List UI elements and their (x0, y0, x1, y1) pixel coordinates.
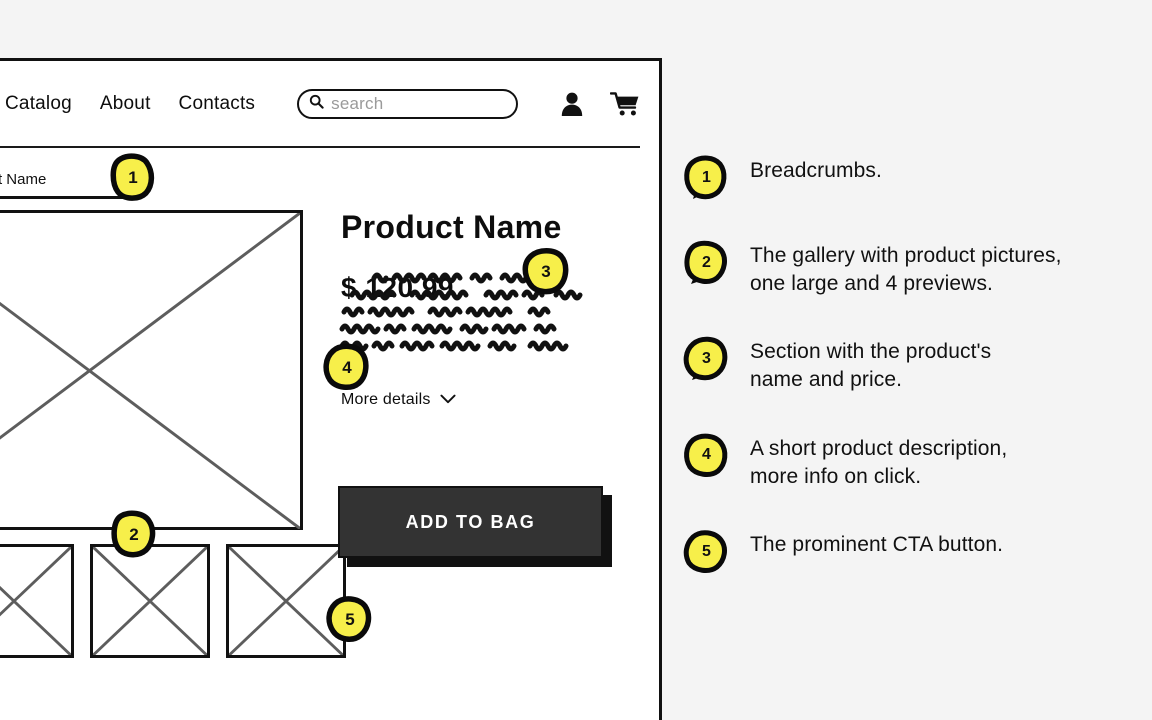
callout-badge-4: 4 (322, 342, 372, 392)
callout-number: 5 (345, 611, 354, 628)
nav-icons (560, 91, 640, 117)
callout-badge-1: 1 (108, 152, 158, 202)
scribble-line (338, 320, 620, 337)
annotation-item: 3 Section with the product's name and pr… (683, 333, 1123, 393)
annotation-text: Breadcrumbs. (750, 152, 882, 185)
scribble-line (338, 303, 620, 320)
nav-link-contacts[interactable]: Contacts (179, 93, 256, 115)
gallery-thumbnail[interactable] (90, 544, 210, 658)
gallery-thumbnail[interactable] (0, 544, 74, 658)
more-details-label: More details (341, 391, 431, 409)
callout-number: 1 (128, 169, 137, 186)
cta-container: ADD TO BAG (338, 486, 603, 558)
annotation-text: The gallery with product pictures, one l… (750, 237, 1062, 297)
gallery-thumbnails (0, 544, 346, 658)
nav-link-about[interactable]: About (100, 93, 151, 115)
nav-link-catalog[interactable]: Catalog (5, 93, 72, 115)
annotation-badge-1: 1 (683, 154, 730, 201)
gallery-main-image[interactable] (0, 210, 303, 530)
add-to-bag-button[interactable]: ADD TO BAG (338, 486, 603, 558)
callout-badge-2: 2 (109, 509, 159, 559)
search-icon (309, 94, 324, 114)
image-placeholder-cross-icon (93, 547, 207, 655)
annotation-text: The prominent CTA button. (750, 526, 1003, 559)
callout-number: 4 (342, 359, 351, 376)
more-details-toggle[interactable]: More details (341, 391, 456, 409)
chevron-down-icon (440, 391, 456, 409)
breadcrumb: tegory ❯ Product Name (0, 171, 46, 188)
annotation-number: 2 (702, 255, 711, 271)
annotation-badge-2: 2 (683, 239, 730, 286)
image-placeholder-cross-icon (0, 547, 71, 655)
annotation-number: 1 (702, 170, 711, 186)
annotation-item: 1 Breadcrumbs. (683, 152, 1123, 201)
annotation-item: 2 The gallery with product pictures, one… (683, 237, 1123, 297)
annotation-badge-5: 5 (683, 528, 730, 575)
annotation-badge-4: 4 (683, 432, 730, 479)
annotation-number: 5 (702, 544, 711, 560)
annotation-text: A short product description, more info o… (750, 430, 1007, 490)
callout-badge-3: 3 (521, 246, 571, 296)
nav-links: Catalog About Contacts (5, 93, 255, 115)
annotation-text: Section with the product's name and pric… (750, 333, 991, 393)
annotation-number: 3 (702, 351, 711, 367)
annotation-item: 4 A short product description, more info… (683, 430, 1123, 490)
callout-badge-5: 5 (325, 594, 375, 644)
scribble-line (338, 337, 620, 354)
scribble-line (338, 269, 620, 286)
scribble-line (338, 286, 620, 303)
callout-number: 2 (129, 526, 138, 543)
nav-bar: Catalog About Contacts search (0, 61, 659, 146)
annotation-number: 4 (702, 447, 711, 463)
breadcrumb-current: Product Name (0, 171, 46, 188)
annotation-item: 5 The prominent CTA button. (683, 526, 1123, 575)
account-icon[interactable] (560, 91, 584, 117)
annotation-badge-3: 3 (683, 335, 730, 382)
search-placeholder: search (331, 94, 383, 114)
cart-icon[interactable] (610, 91, 640, 117)
callout-number: 3 (541, 263, 550, 280)
search-input[interactable]: search (297, 89, 518, 119)
product-description-placeholder (338, 269, 620, 354)
annotation-panel: 1 Breadcrumbs. 2 The gallery with produc… (683, 152, 1123, 611)
product-name: Product Name (341, 209, 641, 246)
image-placeholder-cross-icon (0, 213, 300, 529)
nav-divider (0, 146, 640, 148)
